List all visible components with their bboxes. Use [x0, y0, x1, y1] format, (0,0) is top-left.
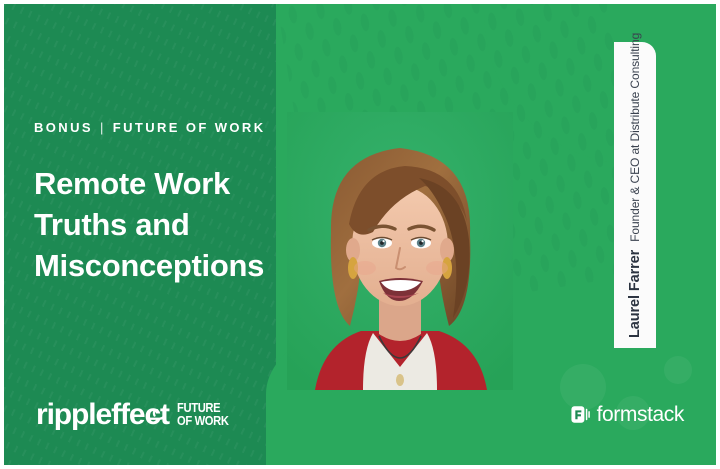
eyebrow-separator: |: [93, 120, 113, 135]
formstack-wordmark: formstack: [597, 404, 684, 425]
sublogo-line-2: OF WORK: [177, 415, 229, 427]
speaker-name: Laurel Farrer: [627, 250, 643, 338]
decorative-circle: [664, 356, 692, 384]
headline-line-1: Remote Work: [34, 163, 289, 204]
episode-cover-canvas: BONUS|FUTURE OF WORK Remote Work Truths …: [0, 0, 720, 469]
eyebrow-label: BONUS|FUTURE OF WORK: [34, 120, 266, 135]
speaker-info-rotated: Laurel Farrer Founder & CEO at Distribut…: [614, 42, 656, 348]
headline-line-2: Truths and: [34, 204, 289, 245]
eyebrow-tag: BONUS: [34, 120, 93, 135]
cover-frame: BONUS|FUTURE OF WORK Remote Work Truths …: [4, 4, 716, 465]
speaker-info-panel: Laurel Farrer Founder & CEO at Distribut…: [614, 42, 656, 348]
speaker-title: Founder & CEO at Distribute Consulting: [628, 33, 642, 242]
speaker-photo-illustration: [287, 112, 513, 390]
ripple-word: ripple: [36, 398, 111, 431]
ripple-e-icon: [146, 409, 164, 425]
future-of-work-sublogo: FUTURE OF WORK: [177, 402, 229, 430]
ripple-effect-logo[interactable]: rippleffect FUTURE OF WORK: [36, 400, 237, 430]
speaker-photo: [287, 112, 513, 390]
headline-line-3: Misconceptions: [34, 245, 289, 286]
formstack-f-icon: [571, 405, 590, 424]
page-title: Remote Work Truths and Misconceptions: [34, 163, 289, 287]
ripple-effect-wordmark: rippleffect: [36, 400, 169, 430]
eyebrow-series: FUTURE OF WORK: [113, 120, 266, 135]
formstack-logo[interactable]: formstack: [571, 404, 684, 425]
